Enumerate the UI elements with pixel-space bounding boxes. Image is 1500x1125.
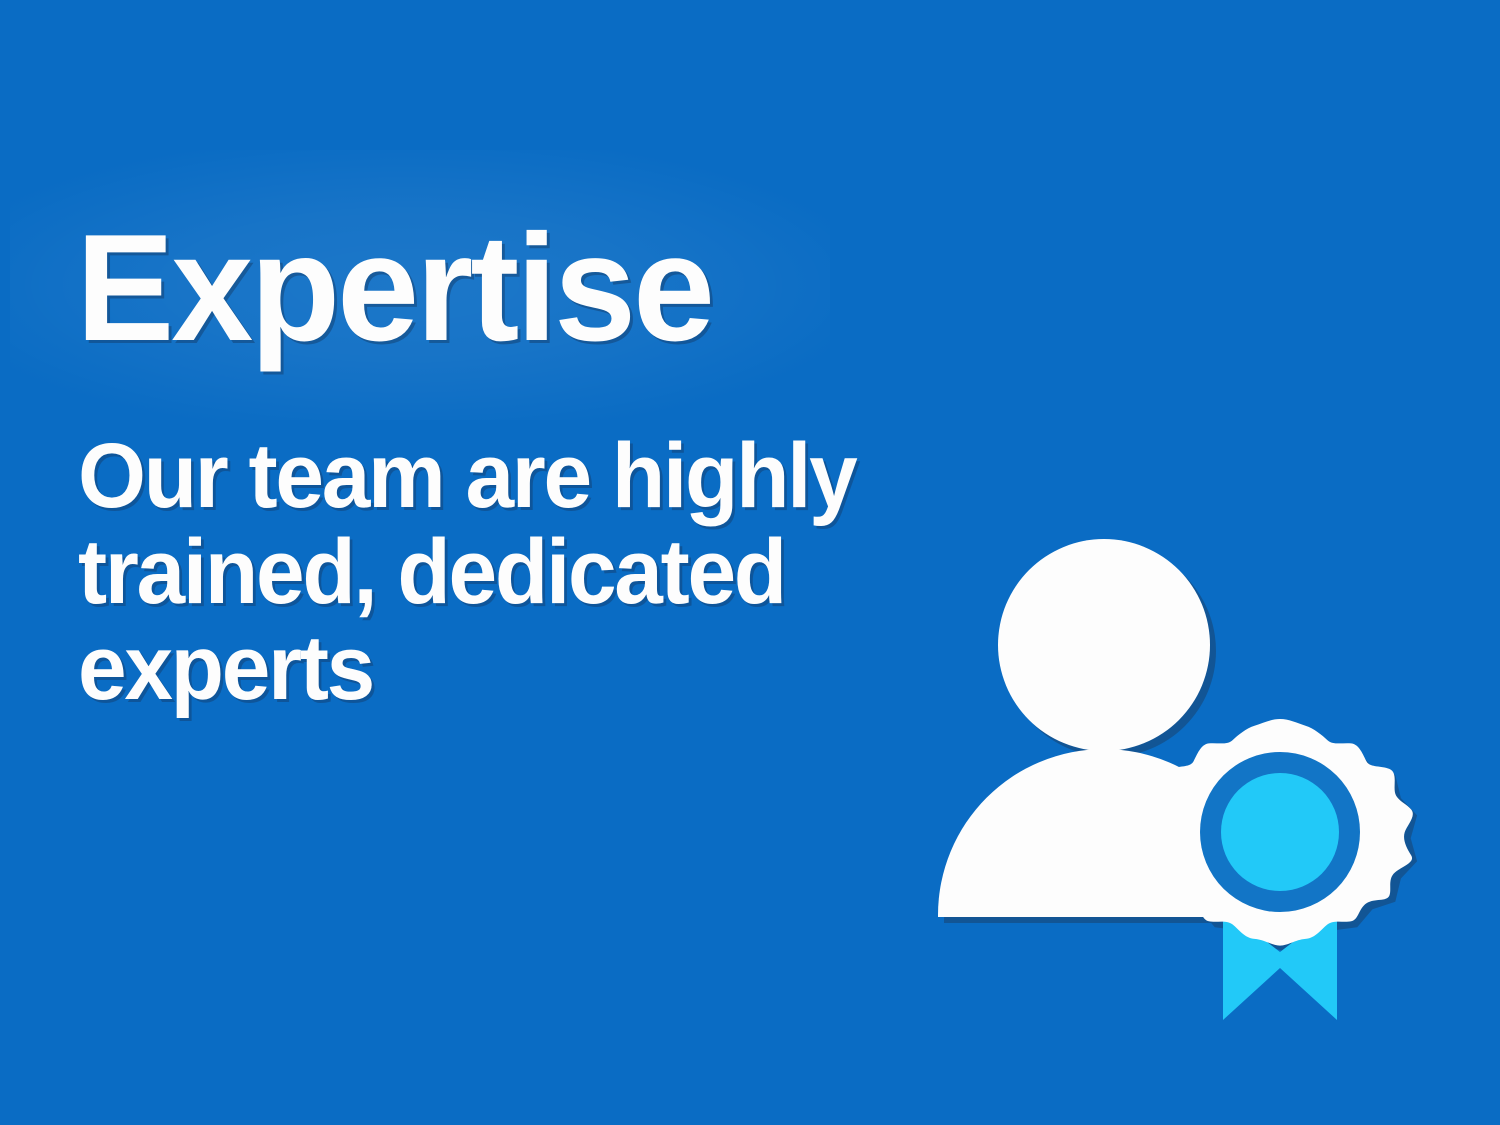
subtitle-line-2: trained, dedicated — [78, 521, 785, 623]
certified-expert-icon — [905, 500, 1425, 1045]
subtitle-line-3: experts — [78, 617, 373, 719]
page-title: Expertise — [76, 212, 712, 364]
page-subtitle: Our team are highly trained, dedicated e… — [78, 428, 867, 716]
person-head — [998, 539, 1210, 751]
slide-canvas: Expertise Our team are highly trained, d… — [0, 0, 1500, 1125]
badge-center — [1221, 773, 1339, 891]
subtitle-line-1: Our team are highly — [78, 425, 856, 527]
